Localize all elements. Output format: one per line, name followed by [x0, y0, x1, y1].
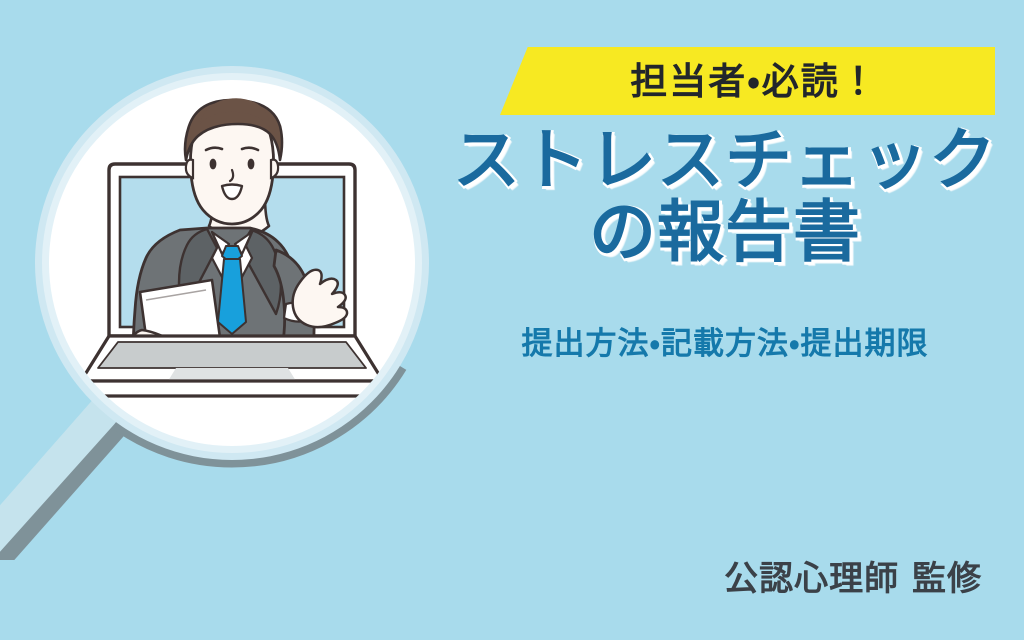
title-line-1: ストレスチェック: [440, 126, 1010, 194]
page-title: ストレスチェック の報告書: [440, 126, 1010, 267]
page-subtitle: 提出方法・記載方法・提出期限: [440, 318, 1010, 363]
magnifier-handle: [0, 396, 131, 560]
ribbon-badge: 担当者・必読！: [500, 47, 995, 115]
title-line-2: の報告書: [440, 198, 1010, 266]
magnifying-glass-illustration: [0, 0, 470, 560]
supervisor-credit: 公認心理師 監修: [724, 551, 982, 600]
laptop-base: [81, 336, 383, 396]
banner-canvas: 担当者・必読！ ストレスチェック の報告書 提出方法・記載方法・提出期限 公認心…: [0, 0, 1024, 640]
ribbon-label: 担当者・必読！: [616, 63, 879, 100]
